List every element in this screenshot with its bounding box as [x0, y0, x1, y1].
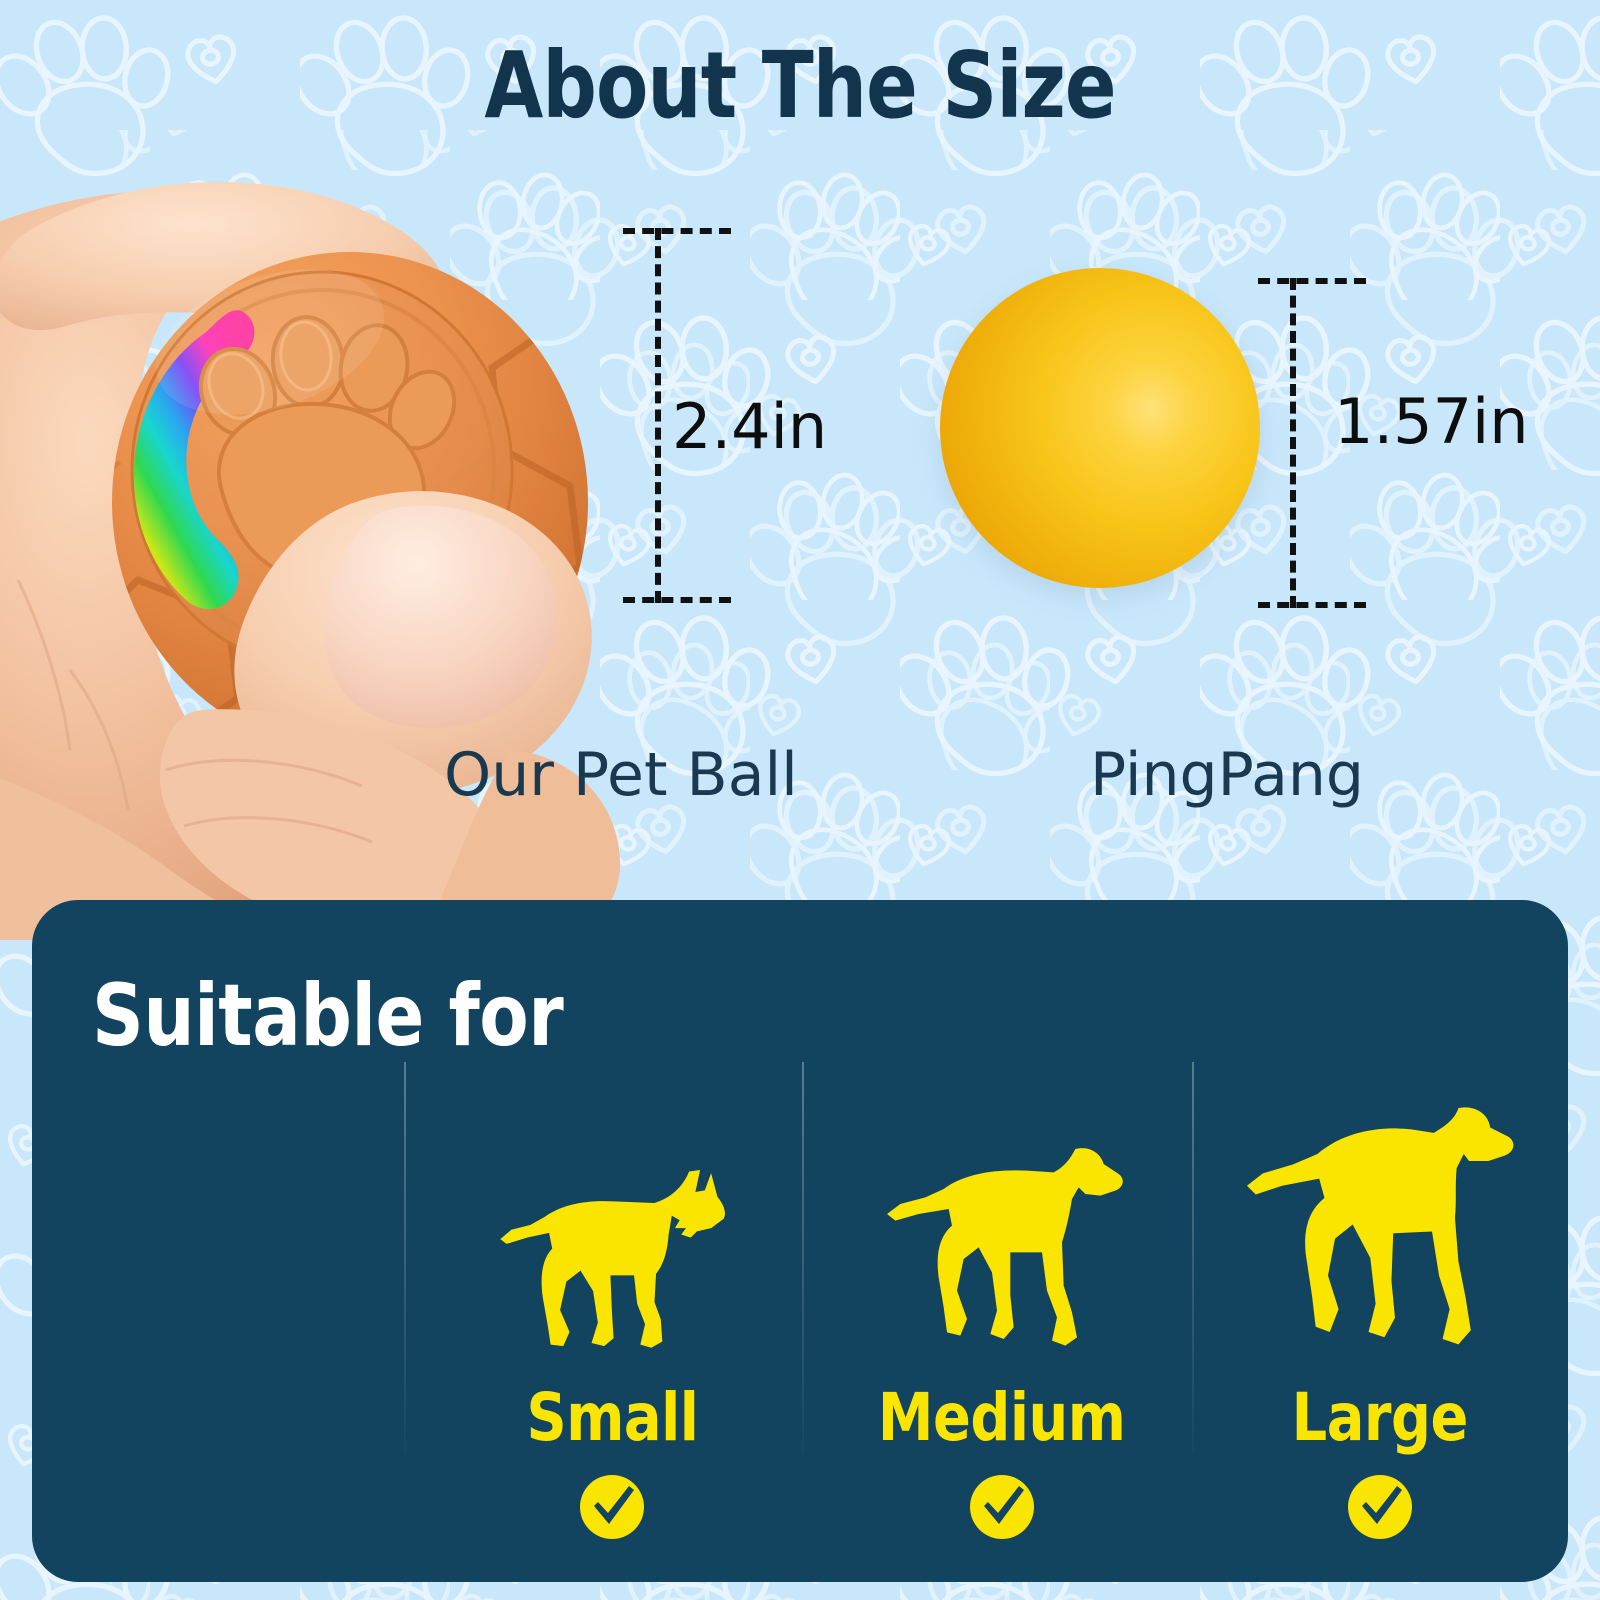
dimension-label-pet-ball: 2.4in [672, 390, 827, 463]
size-column-small[interactable]: Small [432, 1155, 792, 1542]
dimension-cap-bottom [623, 597, 731, 603]
check-badge-icon-small [577, 1472, 647, 1542]
caption-our-pet-ball: Our Pet Ball [444, 740, 798, 810]
dimension-vline [655, 228, 661, 603]
pingpong-ball-image [940, 268, 1260, 588]
size-label-large: Large [1292, 1379, 1468, 1456]
check-badge-icon-large [1345, 1472, 1415, 1542]
dimension-cap-bottom [1258, 602, 1366, 608]
size-label-medium: Medium [878, 1379, 1126, 1456]
size-column-large[interactable]: Large [1200, 1087, 1560, 1542]
suitable-for-panel: Suitable for Small [32, 900, 1568, 1582]
medium-dog-silhouette-icon [876, 1119, 1128, 1369]
column-divider [1192, 1062, 1194, 1454]
large-dog-silhouette-icon [1242, 1087, 1518, 1369]
infographic-stage: About The Size [0, 0, 1600, 1600]
dimension-cap-top [1258, 278, 1366, 284]
column-divider [802, 1062, 804, 1454]
dimension-vline [1290, 278, 1296, 608]
check-badge-icon-medium [967, 1472, 1037, 1542]
small-dog-silhouette-icon [494, 1155, 730, 1369]
dimension-cap-top [623, 228, 731, 234]
dimension-label-pingpang: 1.57in [1334, 385, 1529, 458]
size-column-medium[interactable]: Medium [822, 1119, 1182, 1542]
size-label-small: Small [526, 1379, 698, 1456]
caption-pingpang: PingPang [1090, 740, 1364, 810]
column-divider [404, 1062, 406, 1454]
suitable-for-title: Suitable for [92, 966, 563, 1066]
